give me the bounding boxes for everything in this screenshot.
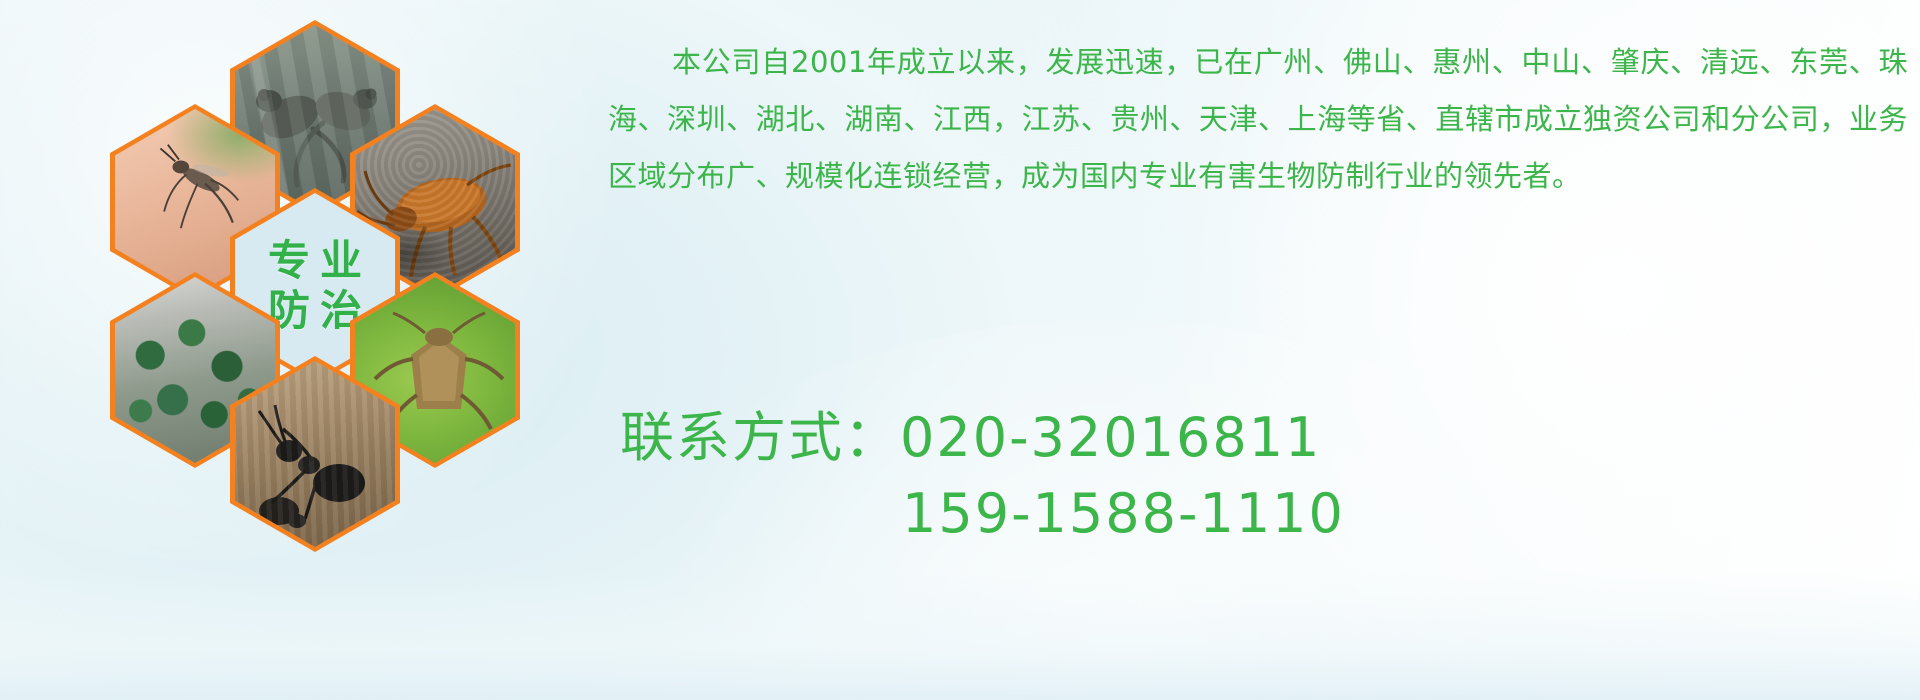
company-intro-block: 本公司自2001年成立以来，发展迅速，已在广州、佛山、惠州、中山、肇庆、清远、东…	[608, 34, 1908, 205]
hexagon-collage: 专业 防治	[88, 6, 588, 566]
contact-mobile-line[interactable]: 159-1588-1110	[620, 476, 1900, 552]
bottom-fade	[0, 570, 1920, 700]
contact-block: 联系方式：020-32016811 159-1588-1110	[620, 400, 1900, 552]
mosquito-icon	[153, 139, 246, 239]
company-intro-paragraph: 本公司自2001年成立以来，发展迅速，已在广州、佛山、惠州、中山、肇庆、清远、东…	[608, 34, 1908, 205]
ant-icon	[235, 361, 395, 547]
logo-text-line1: 专业	[258, 239, 372, 283]
promo-banner: 专业 防治	[0, 0, 1920, 700]
hex-photo-ants-inner	[235, 361, 395, 547]
contact-phone-line[interactable]: 联系方式：020-32016811	[620, 400, 1900, 476]
ants-photo-art	[235, 361, 395, 547]
